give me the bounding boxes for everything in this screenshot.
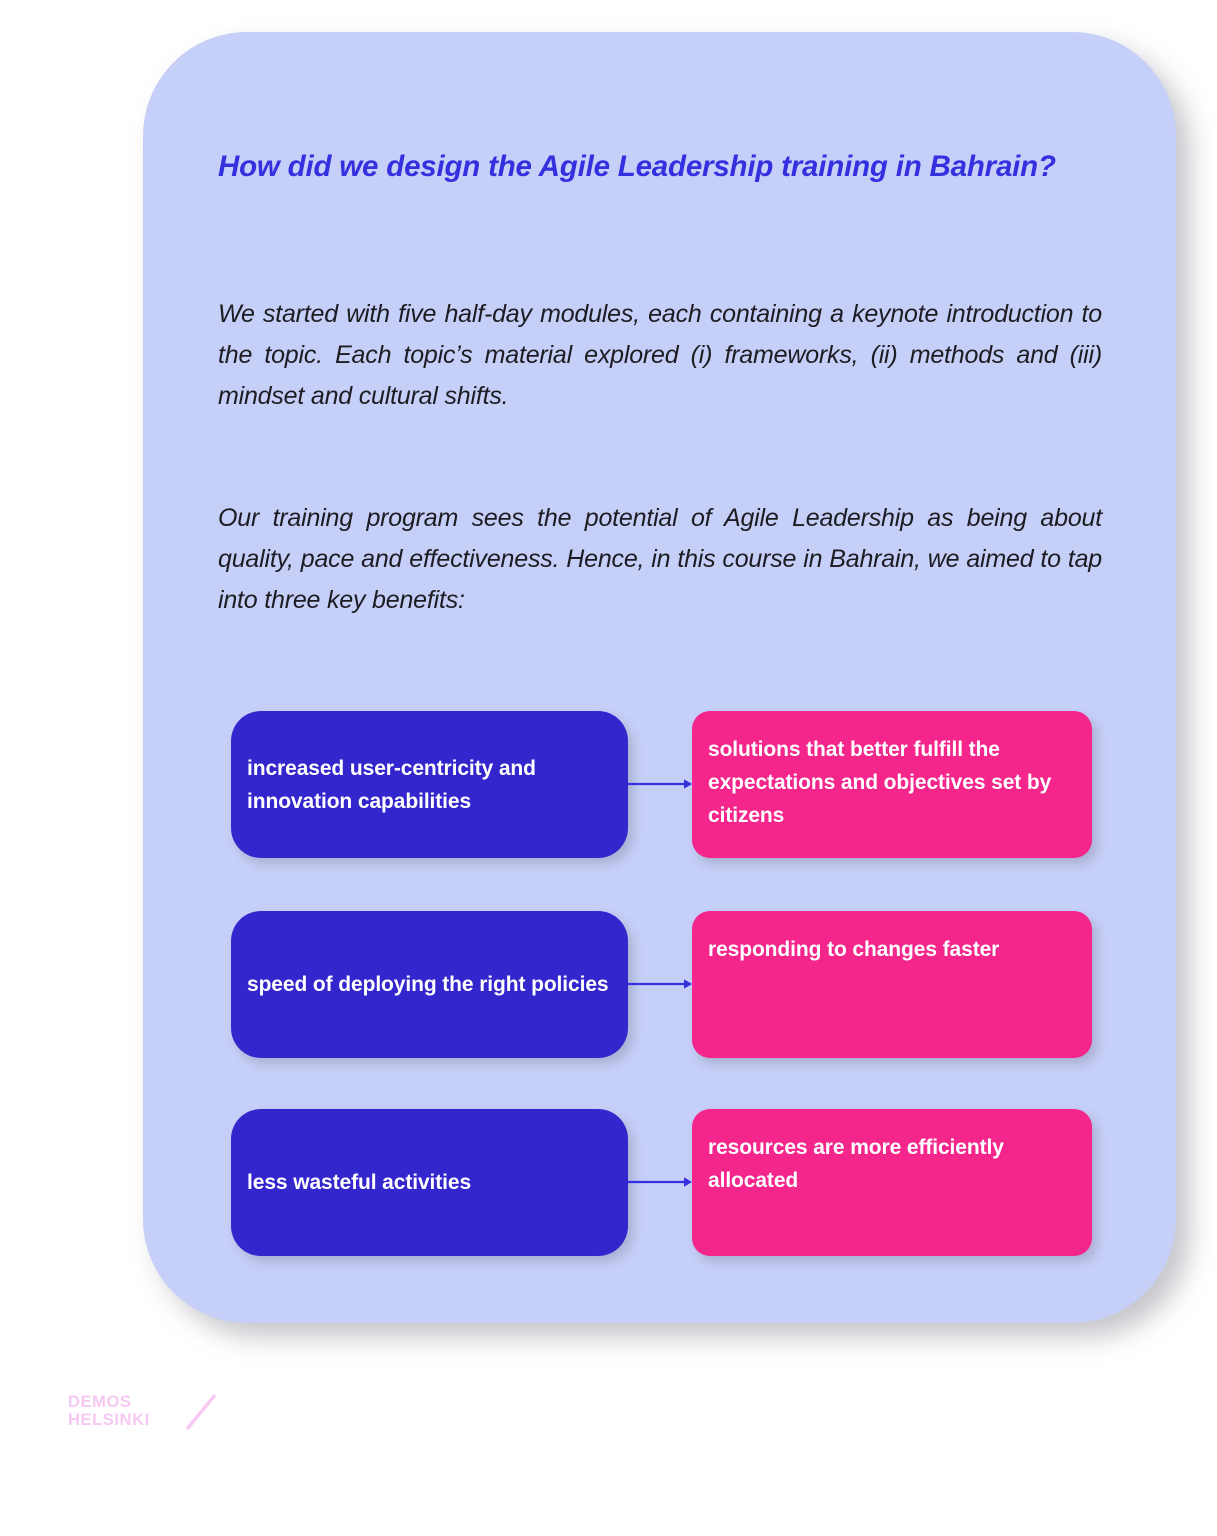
benefit-cause-card[interactable]: speed of deploying the right policies xyxy=(231,911,628,1058)
benefit-effect-card[interactable]: resources are more efficiently allocated xyxy=(692,1109,1092,1256)
benefit-cause-card[interactable]: less wasteful activities xyxy=(231,1109,628,1256)
benefit-effect-label: resources are more efficiently allocated xyxy=(708,1131,1078,1197)
arrow-right-icon xyxy=(628,777,692,791)
brand-logo-text: DEMOS HELSINKI xyxy=(68,1393,150,1429)
benefit-row: speed of deploying the right policies re… xyxy=(231,911,1092,1058)
brand-logo: DEMOS HELSINKI xyxy=(68,1393,218,1441)
benefit-cause-label: less wasteful activities xyxy=(247,1166,471,1199)
arrow-right-icon xyxy=(628,977,692,991)
benefit-row: less wasteful activities resources are m… xyxy=(231,1109,1092,1256)
benefit-cause-label: speed of deploying the right policies xyxy=(247,968,609,1001)
arrow-right-icon xyxy=(628,1175,692,1189)
page-title: How did we design the Agile Leadership t… xyxy=(218,145,1098,188)
benefit-cause-card[interactable]: increased user-centricity and innovation… xyxy=(231,711,628,858)
benefit-row: increased user-centricity and innovation… xyxy=(231,711,1092,858)
benefit-cause-label: increased user-centricity and innovation… xyxy=(247,752,613,818)
benefit-effect-card[interactable]: solutions that better fulfill the expect… xyxy=(692,711,1092,858)
slide-panel: How did we design the Agile Leadership t… xyxy=(143,32,1176,1323)
intro-paragraph-2: Our training program sees the potential … xyxy=(218,498,1102,621)
intro-paragraph-1: We started with five half-day modules, e… xyxy=(218,294,1102,417)
slash-icon xyxy=(183,1393,221,1433)
benefit-effect-label: responding to changes faster xyxy=(708,933,1078,966)
benefit-effect-label: solutions that better fulfill the expect… xyxy=(708,733,1078,832)
benefit-effect-card[interactable]: responding to changes faster xyxy=(692,911,1092,1058)
